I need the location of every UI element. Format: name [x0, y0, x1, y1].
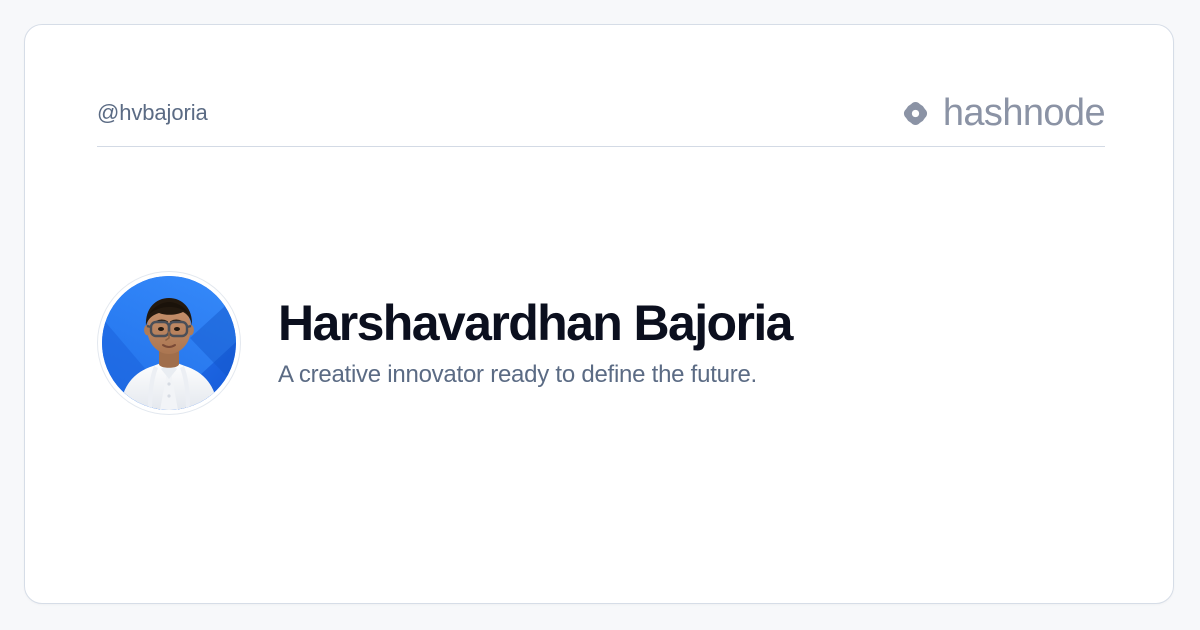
page-title: Harshavardhan Bajoria	[278, 297, 792, 350]
user-handle[interactable]: @hvbajoria	[97, 102, 208, 124]
avatar-photo	[102, 276, 236, 410]
header-divider	[97, 146, 1105, 147]
profile-og-card: @hvbajoria hashnode	[24, 24, 1174, 604]
identity-text-block: Harshavardhan Bajoria A creative innovat…	[278, 297, 792, 390]
hashnode-brand-lockup[interactable]: hashnode	[902, 94, 1105, 132]
hashnode-diamond-logo-icon	[902, 100, 929, 127]
profile-tagline: A creative innovator ready to define the…	[278, 360, 792, 390]
profile-block: Harshavardhan Bajoria A creative innovat…	[102, 276, 1102, 410]
card-header: @hvbajoria hashnode	[97, 79, 1105, 147]
avatar[interactable]	[102, 276, 236, 410]
hashnode-wordmark: hashnode	[943, 94, 1105, 132]
